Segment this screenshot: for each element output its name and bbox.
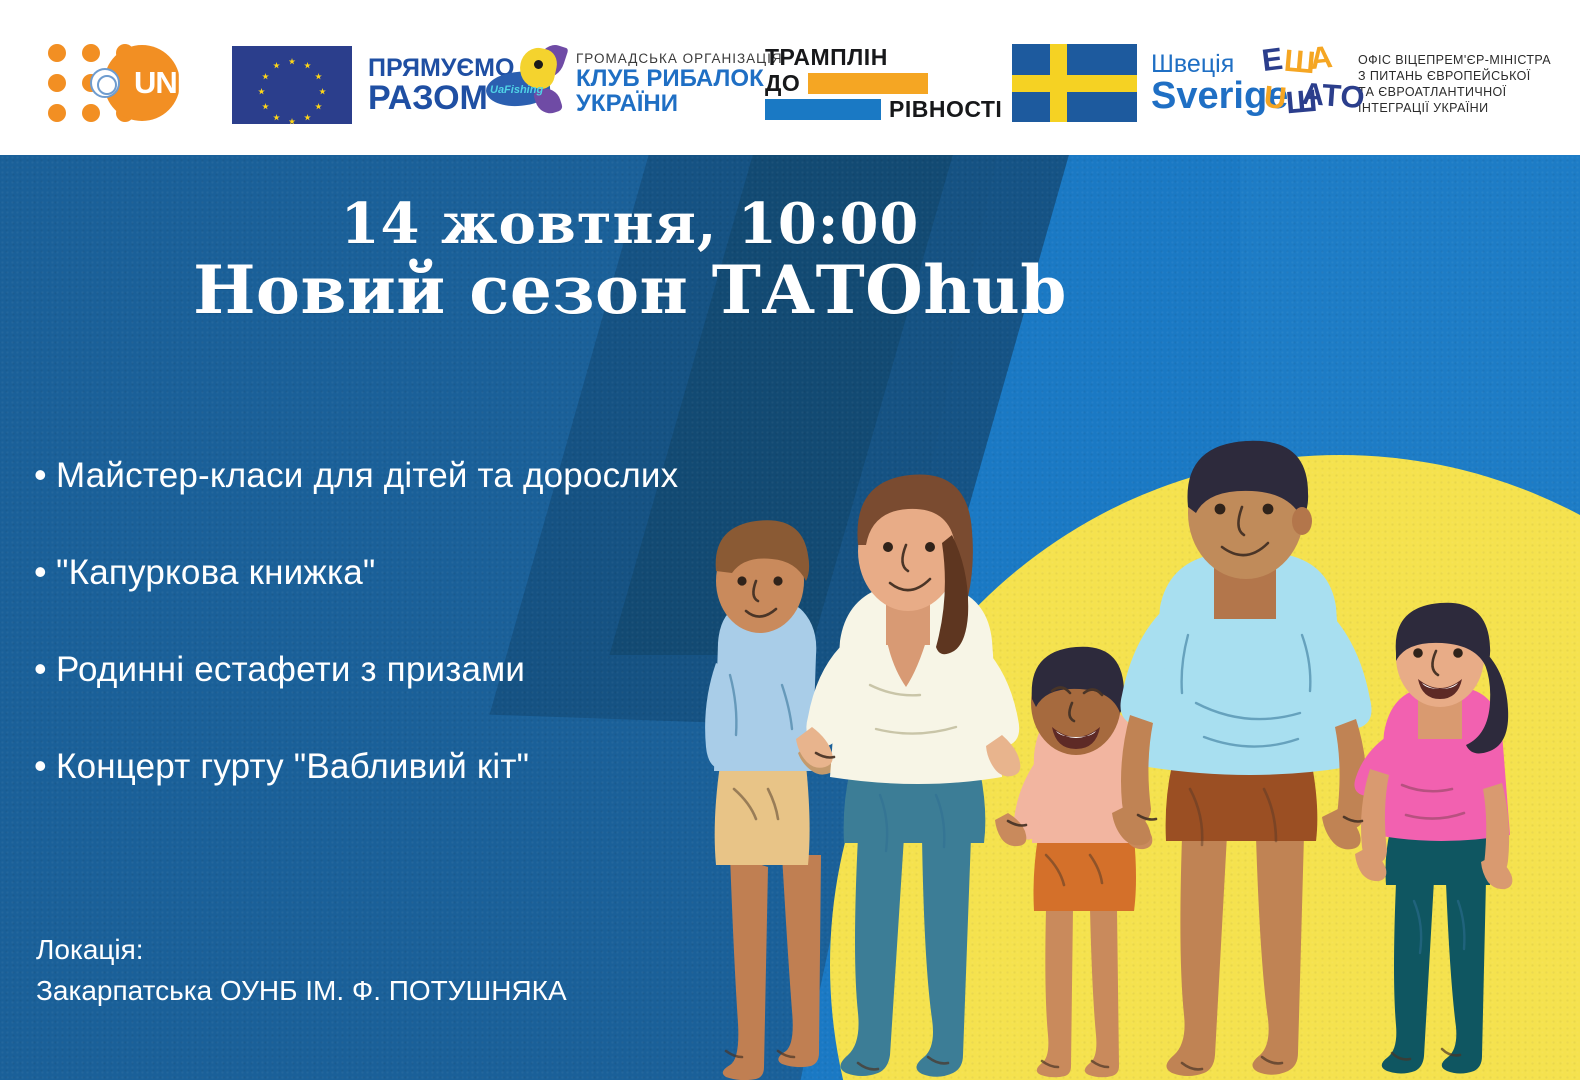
eu-nato-office-text: ОФІС ВІЦЕПРЕМ'ЄР-МІНІСТРА З ПИТАНЬ ЄВРОП… bbox=[1358, 52, 1551, 116]
logo-fishing-club: UaFishing ГРОМАДСЬКА ОРГАНІЗАЦІЯ КЛУБ РИ… bbox=[480, 44, 783, 124]
list-item: • "Капуркова книжка" bbox=[34, 552, 854, 594]
eu-flag-icon bbox=[232, 46, 352, 124]
location-label: Локація: bbox=[36, 930, 567, 971]
program-list: • Майстер-класи для дітей та дорослих • … bbox=[34, 455, 854, 843]
trampline-word-3: РІВНОСТІ bbox=[889, 96, 1002, 123]
fish-logo-icon: UaFishing bbox=[480, 44, 566, 124]
uafishing-wordmark: UaFishing bbox=[490, 84, 543, 96]
list-item-label: "Капуркова книжка" bbox=[56, 552, 376, 594]
location-venue: Закарпатська ОУНБ ІМ. Ф. ПОТУШНЯКА bbox=[36, 971, 567, 1012]
fishing-club-subtitle: ГРОМАДСЬКА ОРГАНІЗАЦІЯ bbox=[576, 52, 783, 66]
logo-unfpa: UNFPA bbox=[48, 44, 180, 122]
trampline-word-1: ТРАМПЛІН bbox=[765, 44, 888, 71]
fishing-club-wordmark: ГРОМАДСЬКА ОРГАНІЗАЦІЯ КЛУБ РИБАЛОК УКРА… bbox=[576, 52, 783, 117]
sponsor-logo-bar: UNFPA ПРЯМУЄМО РАЗОМ UaFishing bbox=[0, 0, 1580, 155]
trampline-word-2: ДО bbox=[765, 70, 800, 97]
eunato-line-2: З ПИТАНЬ ЄВРОПЕЙСЬКОЇ bbox=[1358, 68, 1551, 84]
bullet-marker-icon: • bbox=[34, 457, 56, 493]
list-item: • Майстер-класи для дітей та дорослих bbox=[34, 455, 854, 497]
bullet-marker-icon: • bbox=[34, 748, 56, 784]
event-title: Новий сезон ТАТОhub bbox=[0, 254, 1260, 328]
logo-eu-pryamuyemo-razom: ПРЯМУЄМО РАЗОМ bbox=[232, 46, 514, 124]
list-item: • Концерт гурту "Вабливий кіт" bbox=[34, 746, 854, 788]
eunato-mark-e: E bbox=[1260, 41, 1285, 79]
unfpa-circle-icon: UNFPA bbox=[104, 45, 180, 121]
eunato-line-4: ІНТЕГРАЦІЇ УКРАЇНИ bbox=[1358, 100, 1551, 116]
bullet-marker-icon: • bbox=[34, 651, 56, 687]
eu-nato-logo-icon: E Ш A U Ш ATO bbox=[1262, 40, 1350, 128]
location-block: Локація: Закарпатська ОУНБ ІМ. Ф. ПОТУШН… bbox=[36, 930, 567, 1011]
trampline-blue-bar-icon bbox=[765, 99, 881, 120]
unfpa-wordmark: UNFPA bbox=[134, 65, 233, 101]
eunato-line-3: ТА ЄВРОАТЛАНТИЧНОЇ bbox=[1358, 84, 1551, 100]
bullet-marker-icon: • bbox=[34, 554, 56, 590]
un-emblem-icon bbox=[90, 68, 120, 98]
poster-canvas: UNFPA ПРЯМУЄМО РАЗОМ UaFishing bbox=[0, 0, 1580, 1080]
trampline-orange-bar-icon bbox=[808, 73, 928, 94]
list-item-label: Майстер-класи для дітей та дорослих bbox=[56, 455, 678, 497]
logo-trampline-do-rivnosti: ТРАМПЛІН ДО РІВНОСТІ bbox=[765, 44, 995, 122]
eunato-mark-nato: ATO bbox=[1301, 76, 1366, 116]
event-date-time: 14 жовтня, 10:00 bbox=[0, 195, 1260, 254]
logo-sweden: Швеція Sverige bbox=[1012, 44, 1288, 122]
eunato-mark-a: A bbox=[1308, 39, 1334, 77]
eunato-line-1: ОФІС ВІЦЕПРЕМ'ЄР-МІНІСТРА bbox=[1358, 52, 1551, 68]
headline-block: 14 жовтня, 10:00 Новий сезон ТАТОhub bbox=[0, 195, 1260, 328]
sweden-flag-icon bbox=[1012, 44, 1137, 122]
fishing-club-line-1: КЛУБ РИБАЛОК bbox=[576, 66, 783, 91]
figure-father-blue-tshirt bbox=[1112, 441, 1372, 1076]
list-item-label: Родинні естафети з призами bbox=[56, 649, 525, 691]
figure-girl-pink-top bbox=[1354, 603, 1512, 1074]
logo-eu-nato-office: E Ш A U Ш ATO ОФІС ВІЦЕПРЕМ'ЄР-МІНІСТРА … bbox=[1262, 40, 1551, 128]
list-item: • Родинні естафети з призами bbox=[34, 649, 854, 691]
list-item-label: Концерт гурту "Вабливий кіт" bbox=[56, 746, 529, 788]
poster-body: .ln { fill:none; stroke:#4a3527; stroke-… bbox=[0, 155, 1580, 1080]
fishing-club-line-2: УКРАЇНИ bbox=[576, 91, 783, 116]
